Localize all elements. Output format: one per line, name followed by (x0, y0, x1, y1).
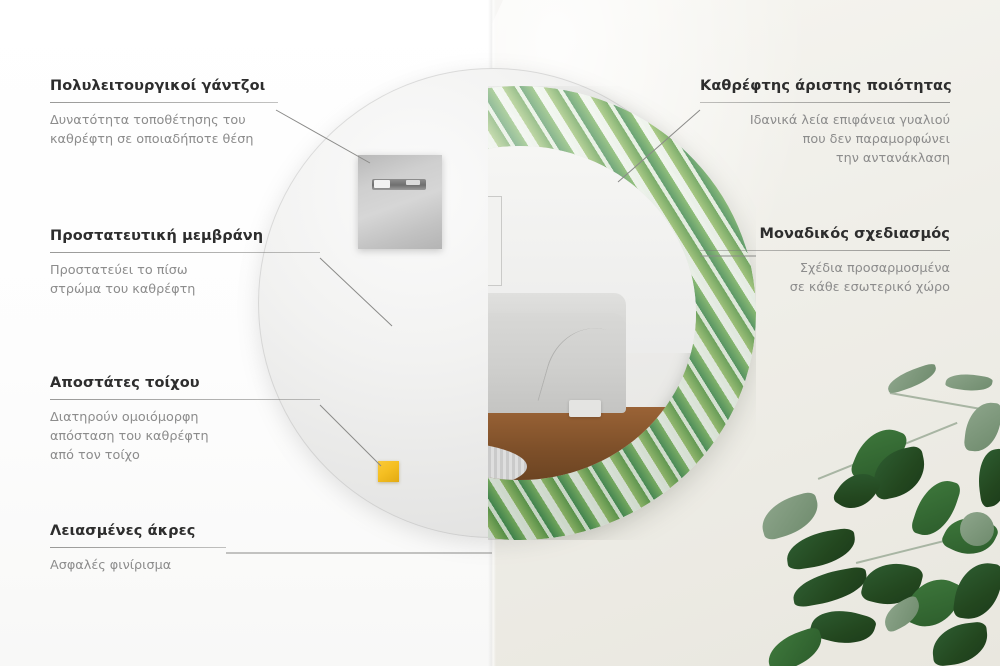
callout-rule (50, 102, 278, 103)
callout-description: Διατηρούν ομοιόμορφη απόσταση του καθρέφ… (50, 409, 320, 466)
leaf (945, 370, 993, 395)
leaf (974, 448, 1000, 508)
callout-title: Μοναδικός σχεδιασμός (700, 226, 950, 242)
hanger-plate (358, 155, 442, 249)
callout-title: Αποστάτες τοίχου (50, 375, 320, 391)
callout-rule (700, 250, 950, 251)
leaf (790, 566, 870, 609)
infographic-canvas: Πολυλειτουργικοί γάντζοι Δυνατότητα τοπο… (0, 0, 1000, 666)
leaf (930, 621, 990, 666)
mirror-glass-reflection (488, 146, 696, 480)
callout-protective-membrane: Προστατευτική μεμβράνη Προστατεύει το πί… (50, 228, 320, 300)
leaf (963, 400, 1000, 453)
reflected-lamp-shade (569, 400, 601, 417)
leaf (960, 512, 994, 546)
callout-rule (700, 102, 950, 103)
callout-wall-spacers: Αποστάτες τοίχου Διατηρούν ομοιόμορφη απ… (50, 375, 320, 466)
callout-title: Λειασμένες άκρες (50, 523, 226, 539)
callout-smoothed-edges: Λειασμένες άκρες Ασφαλές φινίρισμα (50, 523, 226, 576)
callout-description: Ιδανικά λεία επιφάνεια γυαλιού που δεν π… (700, 112, 950, 169)
leaf (885, 362, 940, 394)
callout-description: Ασφαλές φινίρισμα (50, 557, 226, 576)
callout-multifunctional-hooks: Πολυλειτουργικοί γάντζοι Δυνατότητα τοπο… (50, 78, 278, 150)
leaf (784, 527, 858, 570)
callout-title: Προστατευτική μεμβράνη (50, 228, 320, 244)
callout-top-quality-mirror: Καθρέφτης άριστης ποιότητας Ιδανικά λεία… (700, 78, 950, 169)
leaf-stem (890, 392, 985, 410)
callout-unique-design: Μοναδικός σχεδιασμός Σχέδια προσαρμοσμέν… (700, 226, 950, 298)
callout-rule (50, 252, 320, 253)
callout-description: Δυνατότητα τοποθέτησης του καθρέφτη σε ο… (50, 112, 278, 150)
foliage-decoration (760, 366, 1000, 666)
callout-description: Σχέδια προσαρμοσμένα σε κάθε εσωτερικό χ… (700, 260, 950, 298)
wall-spacer-block (378, 461, 399, 482)
callout-description: Προστατεύει το πίσω στρώμα του καθρέφτη (50, 262, 320, 300)
reflected-artwork-frame (488, 196, 502, 286)
leaf (952, 559, 1000, 623)
callout-rule (50, 547, 226, 548)
hanger-slot-icon (372, 179, 426, 190)
callout-title: Καθρέφτης άριστης ποιότητας (700, 78, 950, 94)
leaf (762, 626, 827, 666)
callout-rule (50, 399, 320, 400)
callout-title: Πολυλειτουργικοί γάντζοι (50, 78, 278, 94)
